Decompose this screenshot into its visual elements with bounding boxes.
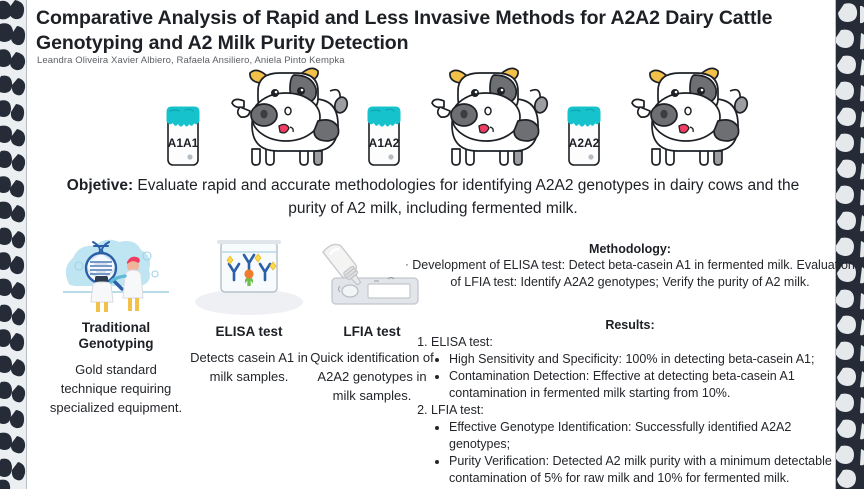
results-point: Effective Genotype Identification: Succe… xyxy=(449,419,855,453)
results-item-elisa: ELISA test: High Sensitivity and Specifi… xyxy=(431,334,855,402)
elisa-beaker-antibody-icon xyxy=(187,236,311,320)
results-point: Purity Verification: Detected A2 milk pu… xyxy=(449,453,855,487)
method-description: Detects casein A1 in milk samples. xyxy=(187,348,311,386)
results-list: ELISA test: High Sensitivity and Specifi… xyxy=(405,334,855,487)
method-card-elisa-test: ELISA test Detects casein A1 in milk sam… xyxy=(187,236,311,386)
methodology-section: Methodology: · Development of ELISA test… xyxy=(405,242,855,291)
methodology-bullet-dot: · xyxy=(405,259,409,271)
milk-jar-a2a2: A2A2 xyxy=(562,101,606,172)
objective-statement: Objetive: Evaluate rapid and accurate me… xyxy=(47,174,819,220)
method-description: Gold standard technique requiring specia… xyxy=(49,360,183,417)
methodology-heading: Methodology: xyxy=(405,242,855,256)
page-title: Comparative Analysis of Rapid and Less I… xyxy=(36,6,816,56)
jar-label-text: A1A2 xyxy=(369,136,400,150)
jar-label-text: A2A2 xyxy=(569,136,600,150)
objective-label: Objetive: xyxy=(67,177,133,194)
poster-canvas: Comparative Analysis of Rapid and Less I… xyxy=(0,0,864,489)
objective-text: Evaluate rapid and accurate methodologie… xyxy=(133,177,799,217)
milk-jar-a1a2: A1A2 xyxy=(362,101,406,172)
dna-microscope-scientists-icon xyxy=(49,232,183,316)
jar-label-text: A1A1 xyxy=(168,136,199,150)
results-heading: Results: xyxy=(405,318,855,332)
methodology-body: · Development of ELISA test: Detect beta… xyxy=(405,257,855,291)
results-point: High Sensitivity and Specificity: 100% i… xyxy=(449,351,855,368)
results-sublist: High Sensitivity and Specificity: 100% i… xyxy=(431,351,855,402)
cow-illustration-2 xyxy=(422,65,552,172)
cow-print-border-left xyxy=(0,0,26,489)
results-point: Contamination Detection: Effective at de… xyxy=(449,368,855,402)
method-title: ELISA test xyxy=(187,324,311,340)
results-item-label: LFIA test: xyxy=(431,403,484,417)
results-section: Results: ELISA test: High Sensitivity an… xyxy=(405,318,855,487)
milk-jar-a1a1: A1A1 xyxy=(161,101,205,172)
poster-content: Comparative Analysis of Rapid and Less I… xyxy=(27,0,835,489)
cow-jar-illustration-row: A1A1 xyxy=(127,60,827,172)
cow-illustration-1 xyxy=(222,65,352,172)
methodology-line-1: Development of ELISA test: Detect beta-c… xyxy=(412,258,793,272)
method-card-traditional-genotyping: Traditional Genotyping Gold standard tec… xyxy=(49,232,183,417)
cow-illustration-3 xyxy=(622,65,752,172)
results-item-label: ELISA test: xyxy=(431,335,493,349)
method-title: Traditional Genotyping xyxy=(49,320,183,352)
results-sublist: Effective Genotype Identification: Succe… xyxy=(431,419,855,487)
results-item-lfia: LFIA test: Effective Genotype Identifica… xyxy=(431,402,855,487)
